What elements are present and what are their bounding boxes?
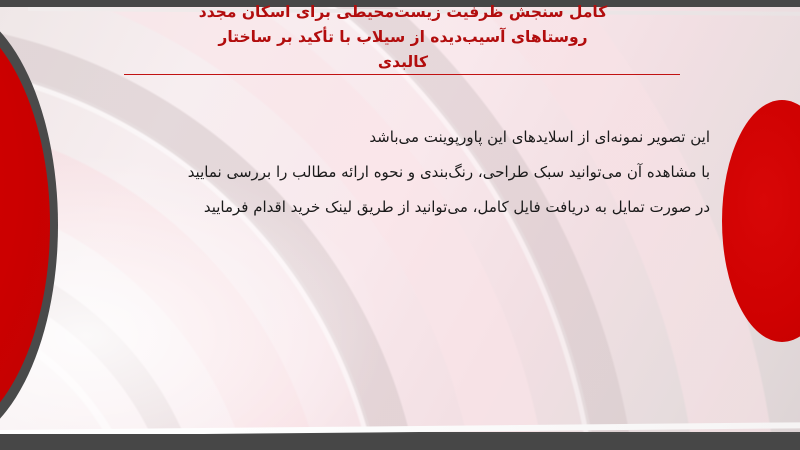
presentation-slide: کامل سنجش ظرفیت زیست‌محیطی برای اسکان مج…: [0, 0, 800, 450]
body-line-2: با مشاهده آن می‌توانید سبک طراحی، رنگ‌بن…: [70, 155, 710, 190]
title-line-1: کامل سنجش ظرفیت زیست‌محیطی برای اسکان مج…: [120, 0, 686, 25]
body-line-1: این تصویر نمونه‌ای از اسلایدهای این پاور…: [70, 120, 710, 155]
frame-bottom-bar: [0, 434, 800, 450]
title-underline-rule: [124, 74, 680, 75]
title-line-3: کالبدی: [120, 50, 686, 75]
slide-title: کامل سنجش ظرفیت زیست‌محیطی برای اسکان مج…: [120, 0, 686, 75]
title-line-2: روستاهای آسیب‌دیده از سیلاب با تأکید بر …: [120, 25, 686, 50]
slide-body-text: این تصویر نمونه‌ای از اسلایدهای این پاور…: [70, 120, 710, 225]
body-line-3: در صورت تمایل به دریافت فایل کامل، می‌تو…: [70, 190, 710, 225]
